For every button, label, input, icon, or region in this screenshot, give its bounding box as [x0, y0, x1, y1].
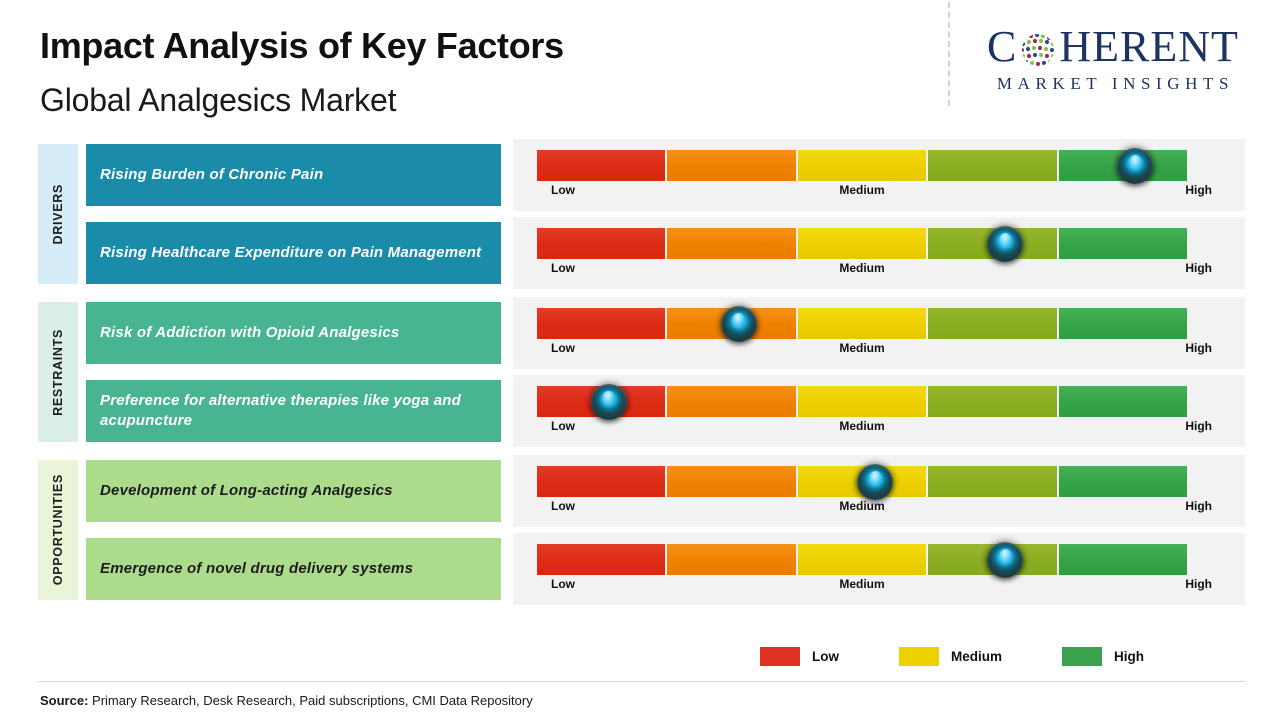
gauge-segment-0: [537, 150, 665, 181]
gauge-label-high: High: [1185, 183, 1212, 197]
legend-swatch-medium: [899, 647, 939, 666]
gauge-axis-labels: LowMediumHigh: [537, 341, 1187, 361]
legend-label: Low: [812, 649, 839, 664]
gauge-segment-2: [798, 386, 926, 417]
factor-box[interactable]: Emergence of novel drug delivery systems: [86, 538, 501, 600]
source-label: Source:: [40, 693, 88, 708]
gauge-label-medium: Medium: [839, 183, 884, 197]
source-line: Source: Primary Research, Desk Research,…: [40, 693, 533, 708]
impact-gauge: LowMediumHigh: [513, 533, 1245, 605]
logo-name-part-1: C: [987, 25, 1017, 69]
gauge-label-low: Low: [551, 183, 575, 197]
header-divider: [948, 2, 950, 106]
impact-marker[interactable]: [857, 464, 893, 500]
impact-marker[interactable]: [721, 306, 757, 342]
legend-item-medium: Medium: [899, 647, 1002, 666]
impact-marker[interactable]: [987, 226, 1023, 262]
category-tab-label: DRIVERS: [51, 184, 65, 244]
gauge-segment-4: [1059, 466, 1187, 497]
gauge-label-low: Low: [551, 419, 575, 433]
factor-box[interactable]: Rising Burden of Chronic Pain: [86, 144, 501, 206]
gauge-label-high: High: [1185, 577, 1212, 591]
impact-gauge: LowMediumHigh: [513, 297, 1245, 369]
gauge-axis-labels: LowMediumHigh: [537, 261, 1187, 281]
gauge-label-high: High: [1185, 341, 1212, 355]
legend: LowMediumHigh: [760, 644, 1180, 668]
gauge-segment-3: [928, 308, 1056, 339]
gauge-segment-3: [928, 466, 1056, 497]
impact-gauge: LowMediumHigh: [513, 375, 1245, 447]
legend-swatch-high: [1062, 647, 1102, 666]
impact-matrix: DRIVERSRising Burden of Chronic PainLowM…: [0, 140, 1280, 610]
impact-marker[interactable]: [1117, 148, 1153, 184]
factor-label: Rising Burden of Chronic Pain: [100, 165, 323, 185]
impact-gauge: LowMediumHigh: [513, 139, 1245, 211]
gauge-label-low: Low: [551, 261, 575, 275]
impact-gauge: LowMediumHigh: [513, 455, 1245, 527]
category-tab-label: RESTRAINTS: [51, 329, 65, 416]
gauge-segment-1: [667, 228, 795, 259]
legend-label: Medium: [951, 649, 1002, 664]
logo-name-part-2: HERENT: [1059, 25, 1239, 69]
category-tab-label: OPPORTUNITIES: [51, 474, 65, 585]
factor-label: Development of Long-acting Analgesics: [100, 481, 393, 501]
gauge-scale-bar: [537, 228, 1187, 259]
page-subtitle: Global Analgesics Market: [40, 84, 564, 116]
impact-marker[interactable]: [591, 384, 627, 420]
gauge-label-medium: Medium: [839, 499, 884, 513]
footer-divider: [38, 681, 1246, 682]
logo-wordmark: C: [963, 22, 1263, 72]
gauge-segment-4: [1059, 544, 1187, 575]
category-tab-opportunities: OPPORTUNITIES: [38, 460, 78, 600]
gauge-segment-3: [928, 150, 1056, 181]
gauge-label-high: High: [1185, 419, 1212, 433]
gauge-label-high: High: [1185, 261, 1212, 275]
legend-swatch-low: [760, 647, 800, 666]
gauge-segment-0: [537, 308, 665, 339]
gauge-segment-2: [798, 150, 926, 181]
gauge-segment-2: [798, 308, 926, 339]
factor-label: Emergence of novel drug delivery systems: [100, 559, 413, 579]
factor-label: Preference for alternative therapies lik…: [100, 391, 487, 432]
factor-label: Risk of Addiction with Opioid Analgesics: [100, 323, 399, 343]
legend-label: High: [1114, 649, 1144, 664]
factor-box[interactable]: Development of Long-acting Analgesics: [86, 460, 501, 522]
gauge-segment-4: [1059, 386, 1187, 417]
factor-box[interactable]: Rising Healthcare Expenditure on Pain Ma…: [86, 222, 501, 284]
category-tab-drivers: DRIVERS: [38, 144, 78, 284]
gauge-segment-0: [537, 544, 665, 575]
gauge-segment-3: [928, 386, 1056, 417]
header: Impact Analysis of Key Factors Global An…: [0, 0, 1280, 130]
company-logo: C: [963, 22, 1263, 100]
gauge-label-low: Low: [551, 577, 575, 591]
source-text: Primary Research, Desk Research, Paid su…: [88, 693, 532, 708]
gauge-segment-2: [798, 544, 926, 575]
gauge-label-medium: Medium: [839, 341, 884, 355]
impact-marker[interactable]: [987, 542, 1023, 578]
globe-sphere-icon: [1018, 30, 1058, 70]
gauge-segment-1: [667, 466, 795, 497]
legend-item-high: High: [1062, 647, 1144, 666]
gauge-label-low: Low: [551, 499, 575, 513]
factor-box[interactable]: Risk of Addiction with Opioid Analgesics: [86, 302, 501, 364]
gauge-scale-bar: [537, 308, 1187, 339]
gauge-segment-1: [667, 544, 795, 575]
page-title: Impact Analysis of Key Factors: [40, 28, 564, 64]
gauge-label-medium: Medium: [839, 419, 884, 433]
gauge-scale-bar: [537, 386, 1187, 417]
title-block: Impact Analysis of Key Factors Global An…: [40, 28, 564, 116]
gauge-segment-1: [667, 150, 795, 181]
gauge-segment-1: [667, 386, 795, 417]
gauge-label-medium: Medium: [839, 577, 884, 591]
gauge-label-high: High: [1185, 499, 1212, 513]
factor-box[interactable]: Preference for alternative therapies lik…: [86, 380, 501, 442]
logo-tagline: MARKET INSIGHTS: [963, 74, 1263, 94]
impact-gauge: LowMediumHigh: [513, 217, 1245, 289]
gauge-axis-labels: LowMediumHigh: [537, 499, 1187, 519]
gauge-scale-bar: [537, 150, 1187, 181]
category-tab-restraints: RESTRAINTS: [38, 302, 78, 442]
gauge-axis-labels: LowMediumHigh: [537, 183, 1187, 203]
gauge-label-medium: Medium: [839, 261, 884, 275]
gauge-segment-4: [1059, 228, 1187, 259]
gauge-axis-labels: LowMediumHigh: [537, 419, 1187, 439]
factor-label: Rising Healthcare Expenditure on Pain Ma…: [100, 243, 481, 263]
gauge-segment-0: [537, 466, 665, 497]
gauge-label-low: Low: [551, 341, 575, 355]
gauge-scale-bar: [537, 544, 1187, 575]
legend-item-low: Low: [760, 647, 839, 666]
gauge-axis-labels: LowMediumHigh: [537, 577, 1187, 597]
gauge-segment-4: [1059, 308, 1187, 339]
gauge-segment-2: [798, 228, 926, 259]
gauge-segment-0: [537, 228, 665, 259]
